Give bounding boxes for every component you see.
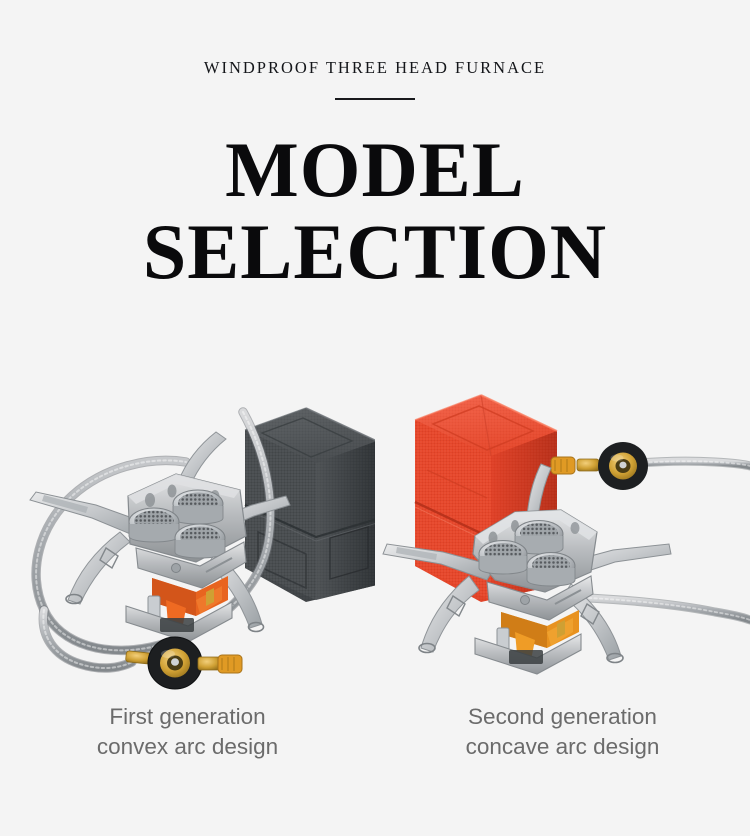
page-title-line-2: SELECTION <box>0 213 750 291</box>
burner-body <box>128 474 246 588</box>
burner-head-front <box>527 553 575 587</box>
page-title-line-1: MODEL <box>0 131 750 209</box>
product-stage <box>0 300 750 700</box>
burner-head-front <box>175 524 225 558</box>
burner-head-left <box>129 508 179 542</box>
hose-connector <box>551 442 750 490</box>
promo-banner: WINDPROOF THREE HEAD FURNACE MODEL SELEC… <box>0 0 750 836</box>
product-second-generation <box>375 300 750 700</box>
braided-gas-hose <box>589 598 750 620</box>
caption-line-2: convex arc design <box>0 732 375 762</box>
product-first-generation <box>0 300 375 700</box>
title-divider <box>335 98 415 100</box>
caption-line-1: Second generation <box>375 702 750 732</box>
burner-head-left <box>479 541 527 575</box>
burner-head-rear <box>173 490 223 524</box>
caption-line-1: First generation <box>0 702 375 732</box>
caption-first-generation: First generation convex arc design <box>0 702 375 762</box>
caption-second-generation: Second generation concave arc design <box>375 702 750 762</box>
caption-line-2: concave arc design <box>375 732 750 762</box>
eyebrow-heading: WINDPROOF THREE HEAD FURNACE <box>0 58 750 78</box>
